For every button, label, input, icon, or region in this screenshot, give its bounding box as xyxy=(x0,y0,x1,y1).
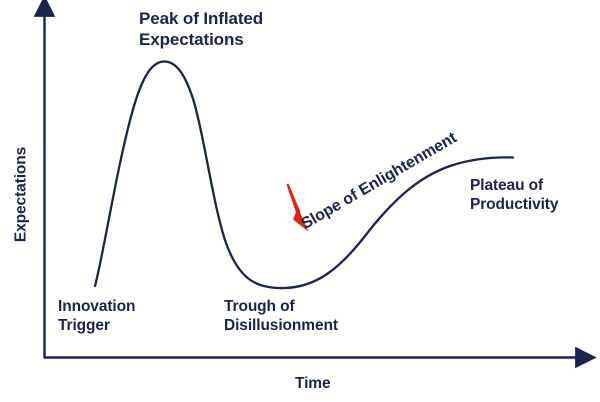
label-peak-of-inflated-expectations: Peak of Inflated Expectations xyxy=(139,9,263,50)
y-axis-label: Expectations xyxy=(13,139,32,249)
label-innovation-trigger: Innovation Trigger xyxy=(58,298,135,336)
label-plateau-of-productivity: Plateau of Productivity xyxy=(470,177,558,215)
label-trough-of-disillusionment: Trough of Disillusionment xyxy=(224,298,338,336)
hype-cycle-curve xyxy=(95,61,513,288)
x-axis-label: Time xyxy=(295,375,331,394)
hype-cycle-chart: Peak of Inflated Expectations Innovation… xyxy=(0,0,600,402)
